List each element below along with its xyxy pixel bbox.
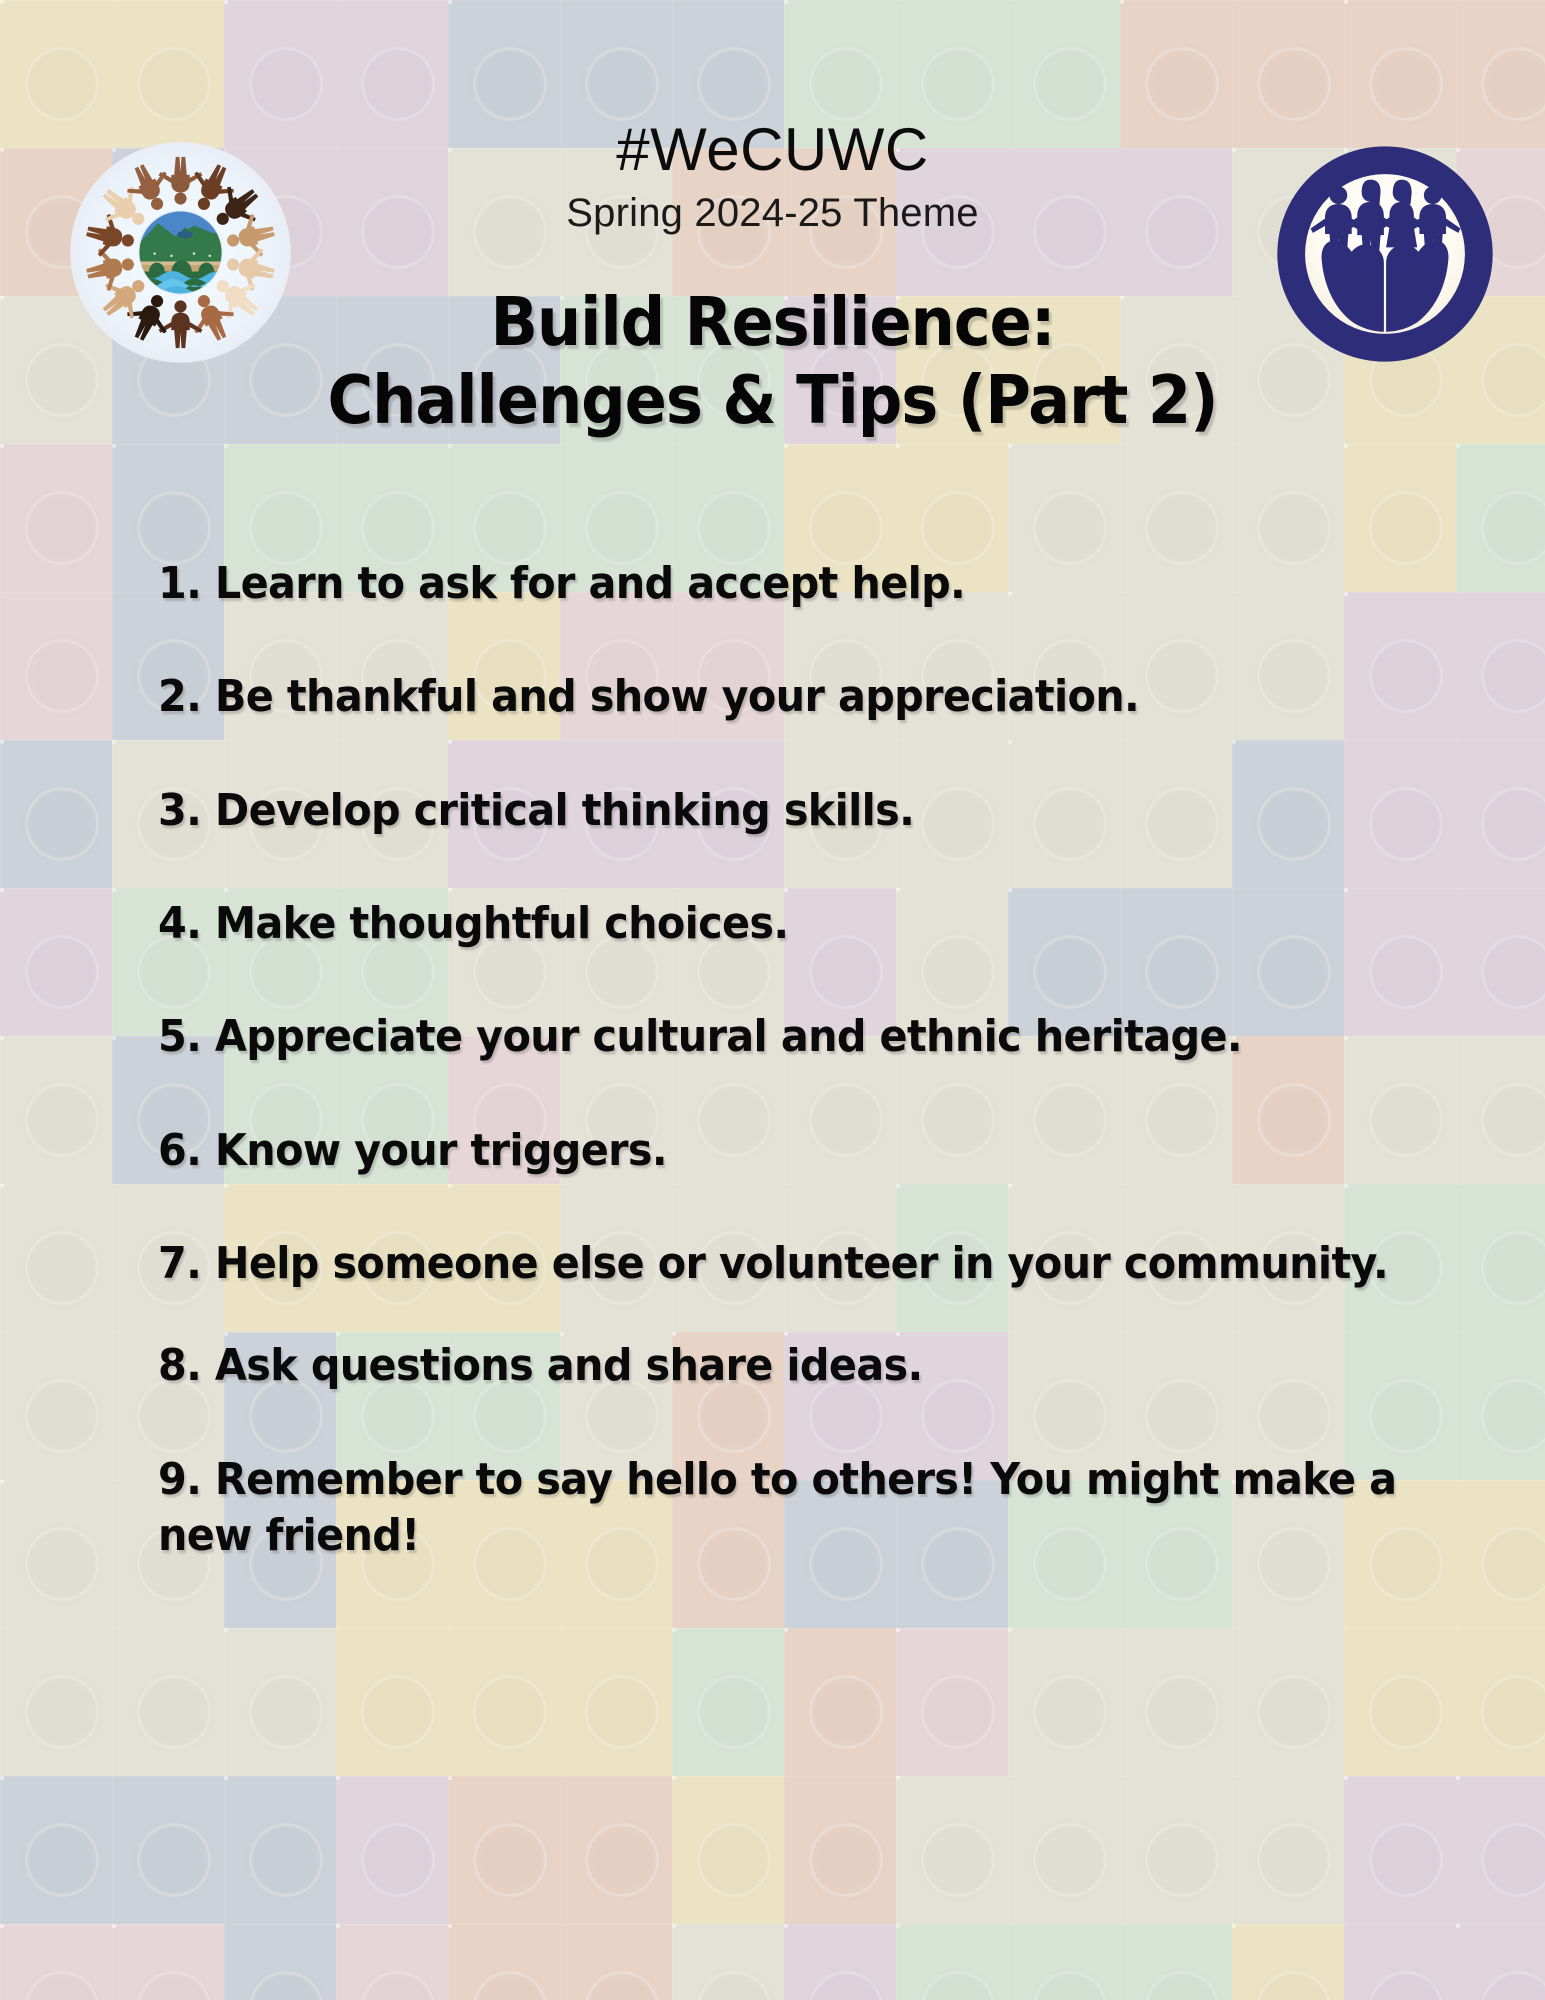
tips-list: 1. Learn to ask for and accept help.2. B… [158, 556, 1485, 1610]
poster: #WeCUWC Spring 2024-25 Theme Build Resil… [0, 0, 1545, 2000]
title-line-1: Build Resilience: [268, 284, 1277, 362]
theme-subtitle: Spring 2024-25 Theme [0, 191, 1545, 235]
hashtag-title: #WeCUWC [0, 118, 1545, 181]
tip-item: 7. Help someone else or volunteer in you… [158, 1236, 1405, 1292]
tip-item: 3. Develop critical thinking skills. [158, 783, 1405, 839]
tip-item: 1. Learn to ask for and accept help. [158, 556, 1405, 612]
tip-item: 9. Remember to say hello to others! You … [158, 1452, 1405, 1565]
tip-item: 4. Make thoughtful choices. [158, 896, 1405, 952]
title-line-2: Challenges & Tips (Part 2) [268, 362, 1277, 440]
tip-item: 8. Ask questions and share ideas. [158, 1338, 1405, 1394]
tip-item: 2. Be thankful and show your appreciatio… [158, 669, 1405, 725]
tip-item: 5. Appreciate your cultural and ethnic h… [158, 1009, 1405, 1065]
header: #WeCUWC Spring 2024-25 Theme [0, 118, 1545, 235]
poster-content: #WeCUWC Spring 2024-25 Theme Build Resil… [0, 0, 1545, 2000]
tip-item: 6. Know your triggers. [158, 1123, 1405, 1179]
page-title: Build Resilience: Challenges & Tips (Par… [0, 284, 1545, 439]
